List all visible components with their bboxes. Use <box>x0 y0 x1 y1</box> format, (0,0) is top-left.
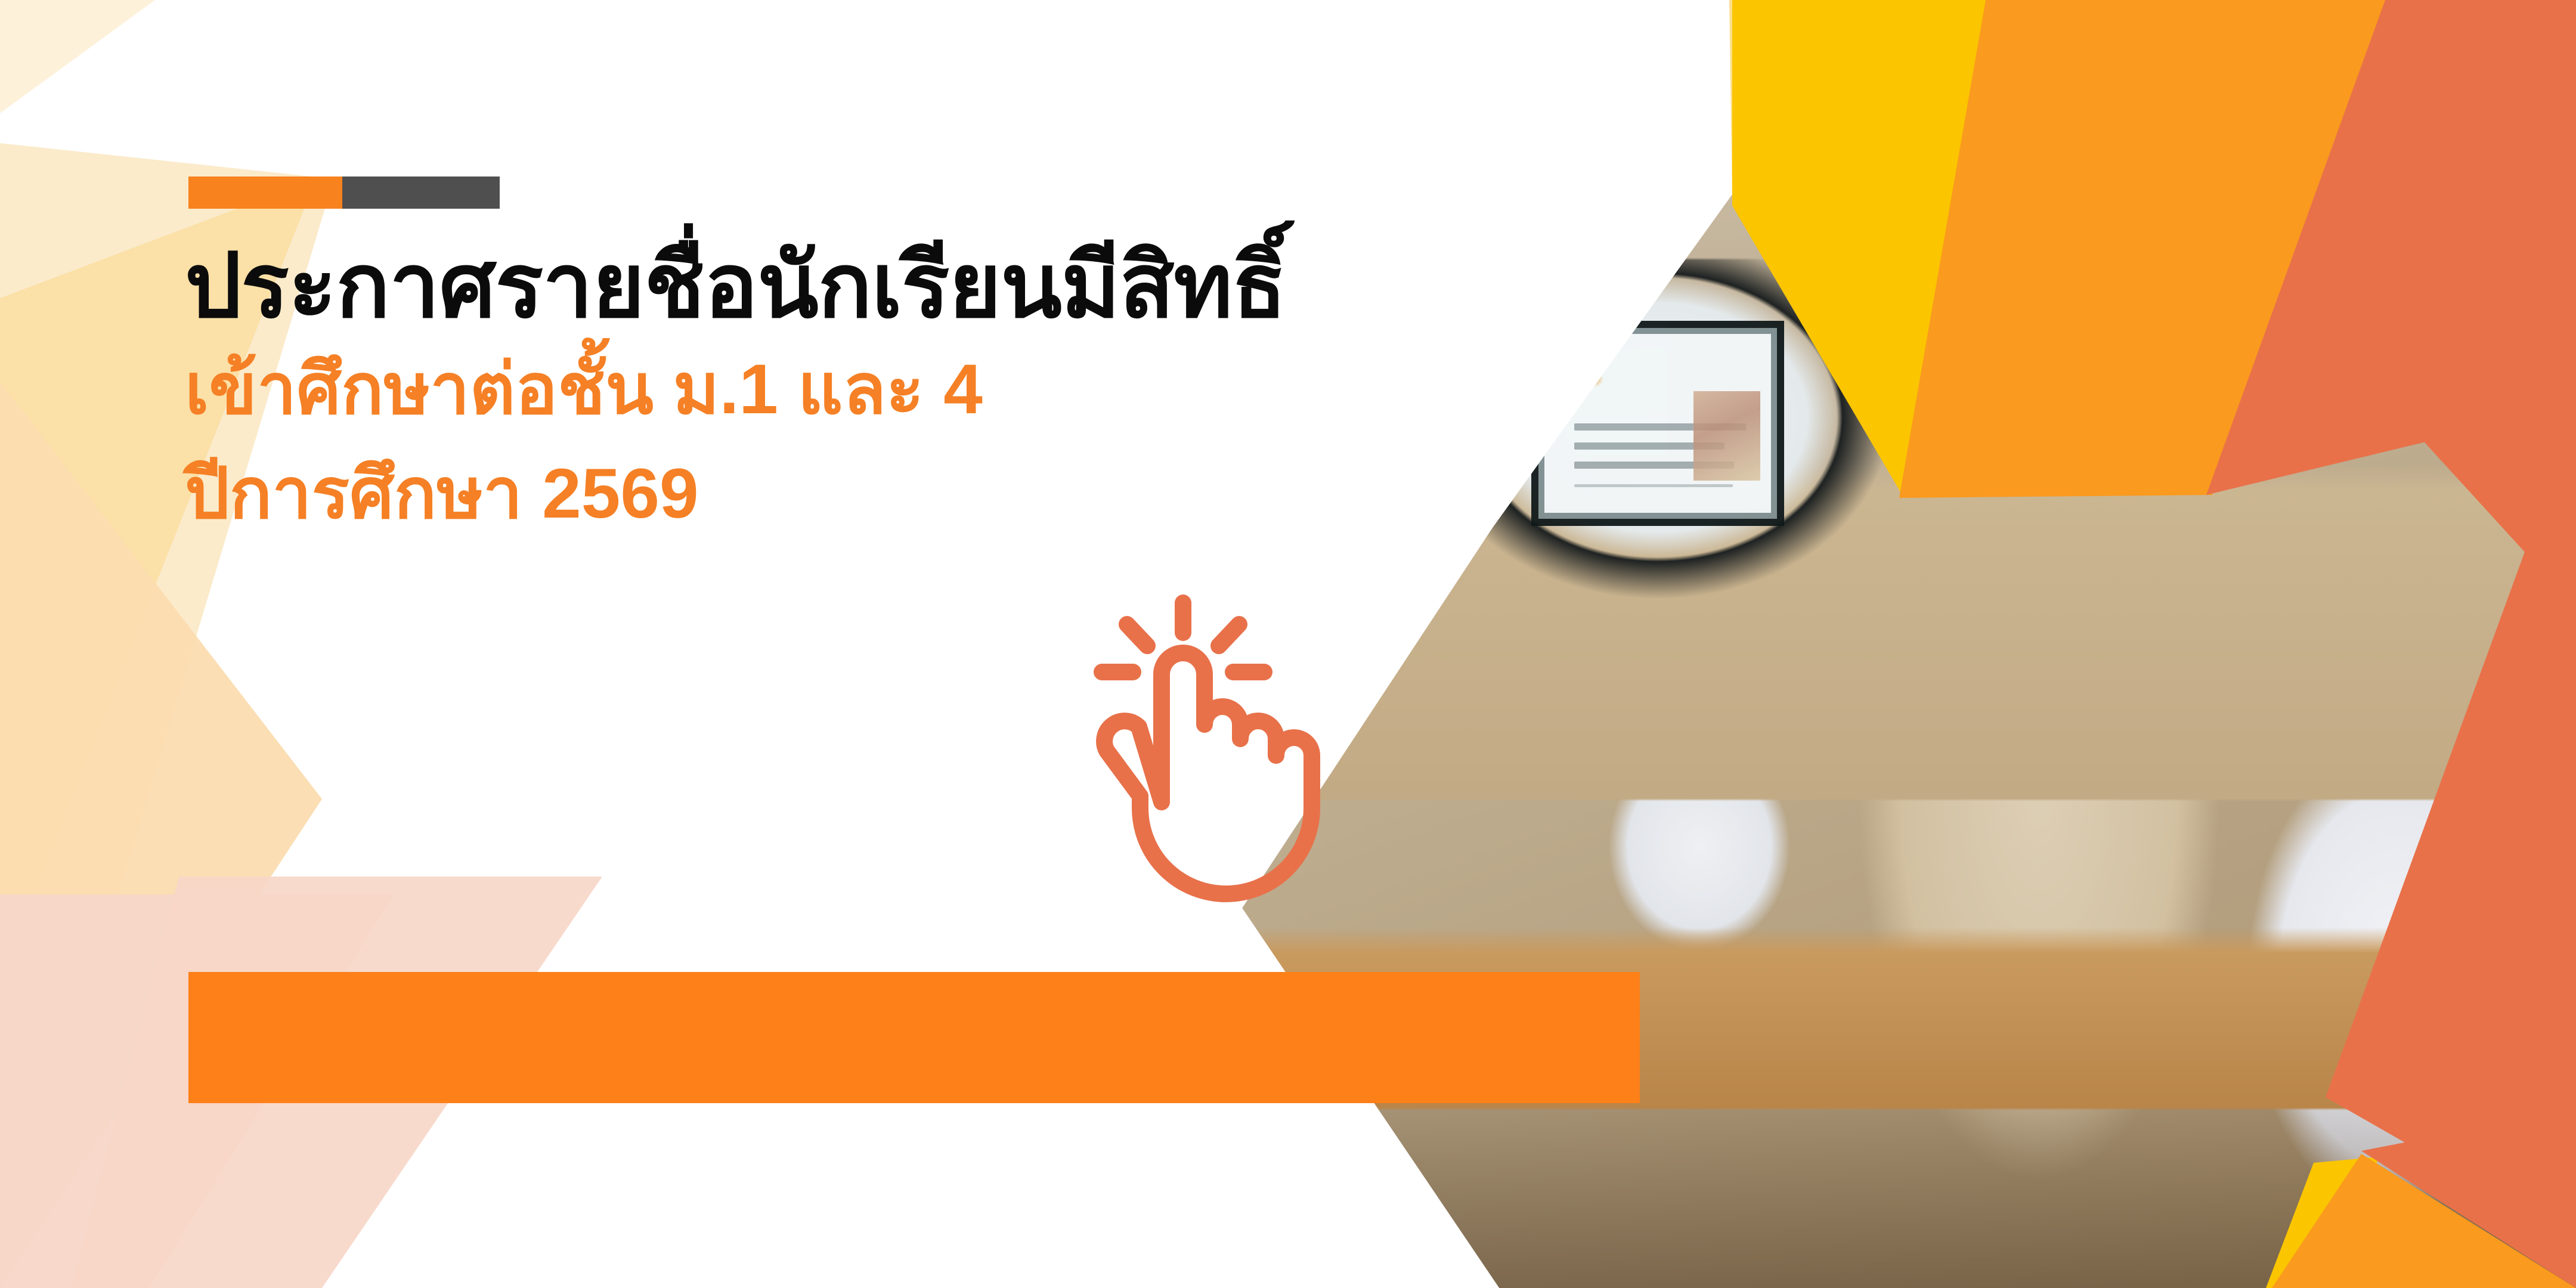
tap-ray-upper-left <box>1127 624 1147 646</box>
headline-block: ประกาศรายชื่อนักเรียนมีสิทธิ์ เข้าศึกษาต… <box>185 234 1377 546</box>
poster-canvas: แบบทดสอบ Pre O-NET ระดับชั้น ม.3 และ ม.6… <box>0 0 2576 1288</box>
tap-hand-outline <box>1104 653 1312 894</box>
subtitle-line-2: ปีการศึกษา 2569 <box>185 442 1377 546</box>
click-tap-hand-icon[interactable] <box>1073 593 1330 951</box>
accent-bar <box>188 177 500 209</box>
subtitle-line-1: เข้าศึกษาต่อชั้น ม.1 และ 4 <box>185 338 1377 442</box>
slide-text-footnote <box>1574 484 1733 487</box>
slide-logo-icon <box>1575 351 1616 397</box>
slide-line-1-text: แบบทดสอบ Pre O-NET <box>1544 334 1545 335</box>
bottom-orange-bar <box>188 972 1640 1103</box>
accent-bar-orange-segment <box>188 177 342 209</box>
accent-bar-gray-segment <box>342 177 500 209</box>
slide-thumbnail-image <box>1693 391 1760 481</box>
projector-slide: แบบทดสอบ Pre O-NET ระดับชั้น ม.3 และ ม.6… <box>1544 334 1771 513</box>
decor-cream-corner-top-left <box>0 0 155 113</box>
tap-ray-upper-right <box>1219 624 1239 646</box>
slide-line-2-text: ระดับชั้น ม.3 และ ม.6 <box>1544 334 1545 335</box>
click-tap-hand-icon-svg <box>1073 593 1330 951</box>
page-title: ประกาศรายชื่อนักเรียนมีสิทธิ์ <box>185 234 1377 338</box>
slide-line-3-text: ประจำปีการศึกษา 2568 <box>1544 334 1545 335</box>
